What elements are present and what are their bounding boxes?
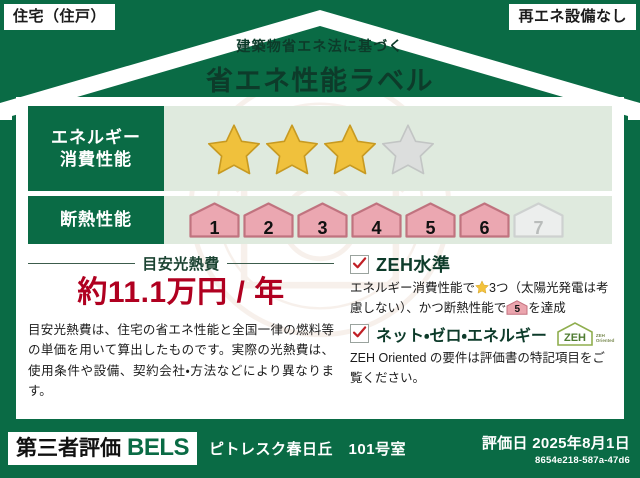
insulation-level-number: 3 [296, 219, 349, 237]
checkmark-icon [350, 324, 369, 343]
utility-cost-amount: 約11.1万円 / 年 [28, 276, 334, 311]
insulation-level-5: 5 [404, 201, 457, 239]
insulation-level-number: 1 [188, 219, 241, 237]
insulation-level-7: 7 [512, 201, 565, 239]
star-rating [206, 121, 436, 177]
insulation-level-number: 6 [458, 219, 511, 237]
building-name: ピトレスク春日丘 101号室 [209, 438, 406, 459]
star-filled-icon [206, 121, 262, 177]
energy-label: 住宅（住戸） 再エネ設備なし 建築物省エネ法に基づく 省エネ性能ラベル エネルギ… [0, 0, 640, 478]
zeh-oriented-mark-icon: ZEH ZEH Oriented [556, 321, 615, 347]
insulation-level-number: 4 [350, 219, 403, 237]
star-empty-icon [380, 121, 436, 177]
insulation-performance-row: 断熱性能 1234567 [28, 196, 612, 244]
energy-performance-label: エネルギー 消費性能 [28, 106, 164, 191]
checkmark-icon [350, 255, 369, 274]
tag-housing-type: 住宅（住戸） [4, 4, 115, 30]
insulation-level-number: 5 [404, 219, 457, 237]
insulation-level-1: 1 [188, 201, 241, 239]
insulation-level-6: 6 [458, 201, 511, 239]
utility-cost-title-wrap: 目安光熱費 [28, 253, 334, 274]
zeh-netzero-heading: ネット・ゼロ・エネルギー ZEH ZEH Oriented [350, 321, 614, 347]
label-card: エネルギー 消費性能 断熱性能 1234567 目安光熱費 [16, 97, 624, 419]
zeh-standard-block: ZEH水準 エネルギー消費性能で3つ（太陽光発電は考慮しない）、かつ断熱性能で5… [350, 251, 614, 319]
zeh-netzero-block: ネット・ゼロ・エネルギー ZEH ZEH Oriented [350, 321, 614, 389]
zeh-mark-sub2: Oriented [596, 338, 615, 343]
star-filled-icon [264, 121, 320, 177]
inline-level-badge: 5 [506, 300, 528, 315]
energy-performance-row: エネルギー 消費性能 [28, 106, 612, 191]
insulation-performance-value: 1234567 [164, 196, 612, 244]
insulation-level-3: 3 [296, 201, 349, 239]
utility-cost-title: 目安光熱費 [142, 253, 220, 274]
zeh-oriented-caption: ZEH Oriented [596, 333, 615, 346]
zeh-netzero-title: ネット・ゼロ・エネルギー [376, 322, 547, 346]
zeh-standard-title: ZEH水準 [376, 251, 451, 277]
evaluation-info: 評価日 2025年8月1日 8654e218-587a-47d6 [482, 432, 630, 466]
tag-renewable-equipment: 再エネ設備なし [509, 4, 636, 30]
star-filled-icon [322, 121, 378, 177]
zeh-column: ZEH水準 エネルギー消費性能で3つ（太陽光発電は考慮しない）、かつ断熱性能で5… [346, 251, 614, 402]
zeh-standard-description: エネルギー消費性能で3つ（太陽光発電は考慮しない）、かつ断熱性能で5を達成 [350, 278, 614, 319]
label-footer: 第三者評価 BELS ピトレスク春日丘 101号室 評価日 2025年8月1日 … [0, 419, 640, 478]
insulation-scale: 1234567 [188, 201, 565, 239]
insulation-level-2: 2 [242, 201, 295, 239]
insulation-performance-label: 断熱性能 [28, 196, 164, 244]
inline-level-number: 5 [506, 305, 528, 315]
bels-badge: 第三者評価 BELS [8, 432, 197, 465]
evaluation-id: 8654e218-587a-47d6 [482, 455, 630, 466]
zeh-desc-part1: エネルギー消費性能で [350, 281, 475, 295]
utility-cost-note: 目安光熱費は、住宅の省エネ性能と全国一律の燃料等の単価を用いて算出したものです。… [28, 320, 334, 403]
utility-cost-column: 目安光熱費 約11.1万円 / 年 目安光熱費は、住宅の省エネ性能と全国一律の燃… [28, 251, 346, 402]
energy-performance-value [164, 106, 612, 191]
bottom-columns: 目安光熱費 約11.1万円 / 年 目安光熱費は、住宅の省エネ性能と全国一律の燃… [28, 251, 612, 402]
inline-star-icon [475, 280, 489, 294]
zeh-desc-part2: を達成 [528, 301, 566, 315]
zeh-standard-heading: ZEH水準 [350, 251, 614, 277]
insulation-level-number: 7 [512, 219, 565, 237]
energy-label-line2: 消費性能 [60, 149, 132, 170]
zeh-netzero-description: ZEH Oriented の要件は評価書の特記項目をご覧ください。 [350, 348, 614, 389]
insulation-level-number: 2 [242, 219, 295, 237]
third-party-eval-text: 第三者評価 [16, 438, 121, 459]
evaluation-date: 評価日 2025年8月1日 [482, 432, 630, 453]
svg-text:ZEH: ZEH [564, 332, 586, 344]
insulation-level-4: 4 [350, 201, 403, 239]
bels-logo-text: BELS [127, 436, 189, 460]
energy-label-line1: エネルギー [51, 127, 141, 148]
